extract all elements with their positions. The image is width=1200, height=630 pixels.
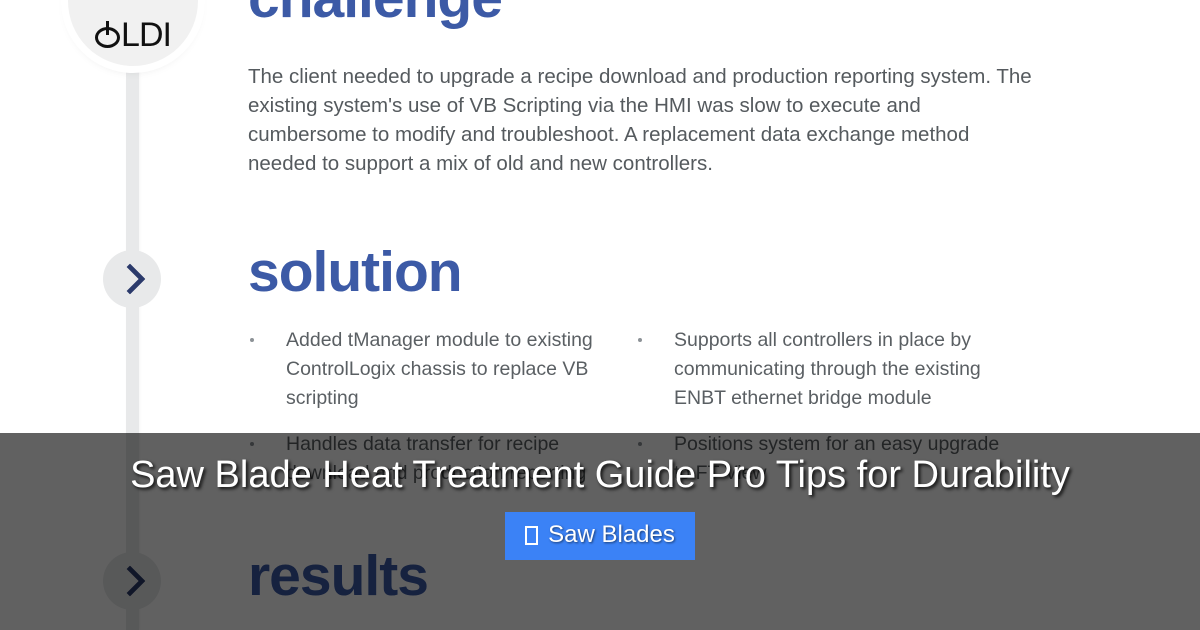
challenge-body-text: The client needed to upgrade a recipe do…	[248, 62, 1038, 178]
page-title: Saw Blade Heat Treatment Guide Pro Tips …	[130, 452, 1070, 498]
chevron-right-icon	[114, 263, 145, 294]
status-badge-label: Saw Blades	[548, 523, 675, 547]
challenge-heading: challenge	[248, 0, 502, 27]
list-item: Supports all controllers in place by com…	[636, 326, 1004, 413]
missing-glyph-box-icon	[525, 526, 538, 545]
logo-letters: LDI	[121, 16, 171, 54]
company-logo: LDI	[68, 0, 198, 66]
overlay-scrim: Saw Blade Heat Treatment Guide Pro Tips …	[0, 433, 1200, 630]
status-badge[interactable]: Saw Blades	[505, 512, 695, 560]
bullet-dot-icon	[250, 338, 254, 342]
screenshot-canvas: LDI challenge The client needed to upgra…	[0, 0, 1200, 630]
bullet-dot-icon	[638, 338, 642, 342]
list-item: Added tManager module to existing Contro…	[248, 326, 616, 413]
logo-text: LDI	[95, 18, 171, 52]
timeline-node-solution[interactable]	[103, 250, 161, 308]
list-item-label: Supports all controllers in place by com…	[674, 329, 981, 409]
solution-heading: solution	[248, 244, 462, 301]
list-item-label: Added tManager module to existing Contro…	[286, 329, 593, 409]
power-symbol-icon	[95, 22, 123, 50]
